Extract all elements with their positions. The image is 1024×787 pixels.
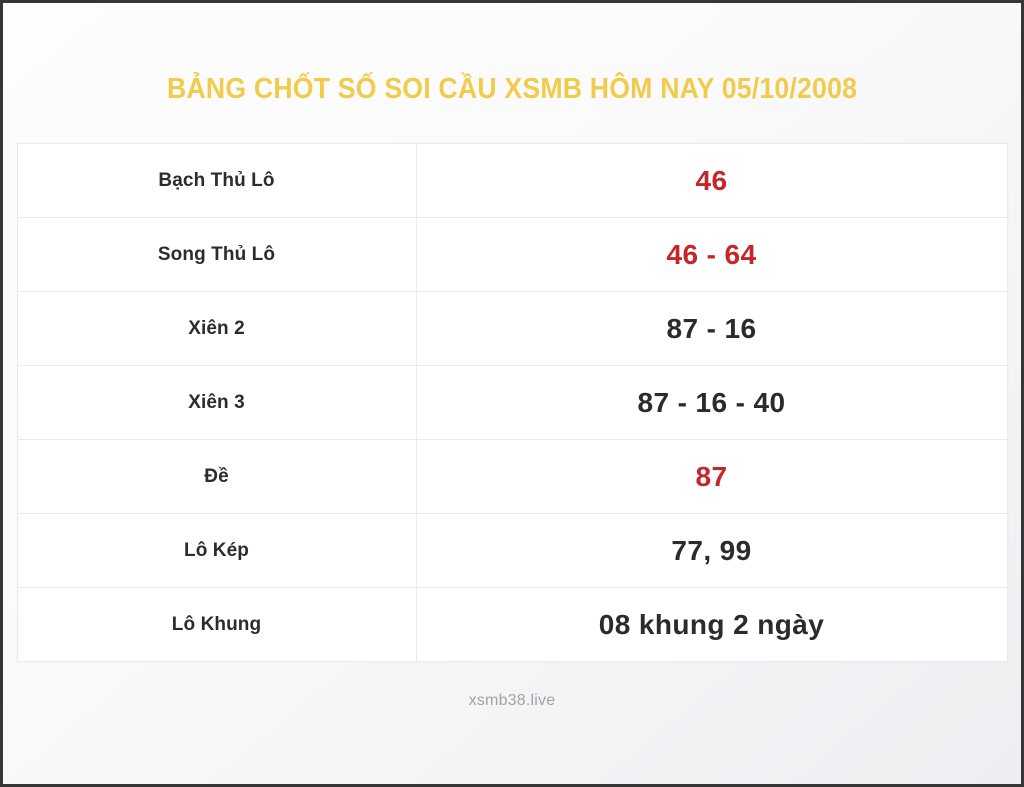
table-cell-value: 08 khung 2 ngày	[416, 588, 1007, 662]
row-label: Xiên 2	[188, 318, 245, 339]
row-value: 87	[696, 461, 728, 492]
page-title: BẢNG CHỐT SỐ SOI CẦU XSMB HÔM NAY 05/10/…	[167, 75, 857, 104]
row-label: Bạch Thủ Lô	[158, 170, 274, 191]
lottery-prediction-table: Bạch Thủ Lô 46 Song Thủ Lô 46 - 64 Xiên …	[17, 143, 1008, 662]
row-label: Đề	[204, 466, 229, 487]
table-cell-label: Lô Khung	[17, 588, 416, 662]
table-cell-label: Song Thủ Lô	[17, 218, 416, 292]
table-row: Lô Khung 08 khung 2 ngày	[17, 588, 1007, 662]
table-row: Xiên 3 87 - 16 - 40	[17, 366, 1007, 440]
table-cell-value: 87	[416, 440, 1007, 514]
row-label: Xiên 3	[188, 392, 245, 413]
table-row: Song Thủ Lô 46 - 64	[17, 218, 1007, 292]
table-body: Bạch Thủ Lô 46 Song Thủ Lô 46 - 64 Xiên …	[17, 144, 1007, 662]
result-board-screen: BẢNG CHỐT SỐ SOI CẦU XSMB HÔM NAY 05/10/…	[0, 0, 1024, 787]
row-value: 87 - 16 - 40	[638, 387, 786, 418]
row-value: 87 - 16	[667, 313, 757, 344]
table-cell-value: 77, 99	[416, 514, 1007, 588]
table-row: Xiên 2 87 - 16	[17, 292, 1007, 366]
row-value: 46	[696, 165, 728, 196]
table-cell-label: Bạch Thủ Lô	[17, 144, 416, 218]
row-label: Lô Khung	[172, 614, 261, 635]
table-cell-label: Đề	[17, 440, 416, 514]
table-cell-value: 87 - 16	[416, 292, 1007, 366]
row-value: 08 khung 2 ngày	[599, 609, 824, 640]
table-row: Bạch Thủ Lô 46	[17, 144, 1007, 218]
table-cell-value: 46	[416, 144, 1007, 218]
table-cell-value: 87 - 16 - 40	[416, 366, 1007, 440]
table-row: Lô Kép 77, 99	[17, 514, 1007, 588]
table-cell-label: Xiên 2	[17, 292, 416, 366]
table-cell-value: 46 - 64	[416, 218, 1007, 292]
table-row: Đề 87	[17, 440, 1007, 514]
row-value: 77, 99	[671, 535, 751, 566]
table-cell-label: Xiên 3	[17, 366, 416, 440]
row-label: Song Thủ Lô	[158, 244, 275, 265]
site-watermark: xsmb38.live	[469, 692, 556, 710]
row-label: Lô Kép	[184, 540, 249, 561]
row-value: 46 - 64	[667, 239, 757, 270]
table-cell-label: Lô Kép	[17, 514, 416, 588]
